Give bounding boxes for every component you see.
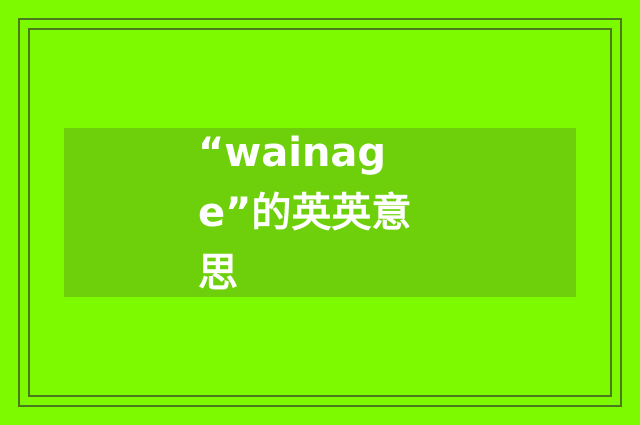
banner-canvas: “wainage”的英英意思 — [0, 0, 640, 425]
page-title: “wainage”的英英意思 — [198, 123, 442, 303]
title-panel: “wainage”的英英意思 — [64, 128, 576, 297]
